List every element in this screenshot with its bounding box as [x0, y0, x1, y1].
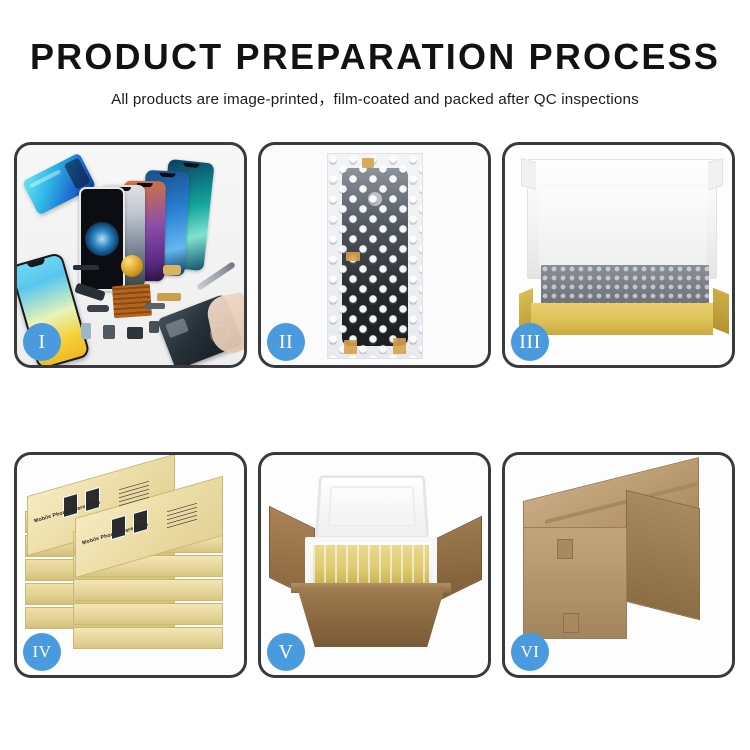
- stacked-box-edge: [73, 603, 223, 625]
- step-card-5[interactable]: V: [258, 452, 491, 678]
- box-yellow-front: [531, 303, 713, 335]
- bubble-highlights: [328, 154, 422, 358]
- phone-fan-group: [81, 159, 241, 289]
- tape-piece-icon: [346, 252, 360, 261]
- carton-side-face: [626, 490, 700, 620]
- part-module-icon: [127, 327, 143, 339]
- step-badge-2: II: [267, 323, 305, 361]
- carton-body: [297, 587, 445, 647]
- step-card-1[interactable]: I: [14, 142, 247, 368]
- step-card-3[interactable]: III: [502, 142, 735, 368]
- step-badge-1: I: [23, 323, 61, 361]
- styrofoam-lid: [315, 475, 430, 539]
- speaker-component-icon: [121, 255, 143, 277]
- box-stack: Mobile Phone Spare Parts Mobile Phone Sp…: [23, 467, 238, 667]
- box-right-side: [713, 288, 729, 334]
- phone-black-screen-icon: [79, 187, 125, 291]
- carton-tape-icon: [557, 539, 573, 559]
- step-badge-6: VI: [511, 633, 549, 671]
- part-strip-icon: [73, 265, 99, 270]
- tape-piece-icon: [362, 158, 374, 168]
- page-subtitle: All products are image-printed，film-coat…: [0, 87, 750, 109]
- product-preparation-infographic: PRODUCT PREPARATION PROCESS All products…: [0, 0, 750, 750]
- bubble-wrap-pack: [327, 153, 423, 359]
- part-gold-strip-icon: [157, 293, 181, 301]
- step-badge-5: V: [267, 633, 305, 671]
- step-card-6[interactable]: VI: [502, 452, 735, 678]
- step-card-2[interactable]: II: [258, 142, 491, 368]
- yellow-boxes-inside: [313, 545, 429, 583]
- page-title: PRODUCT PREPARATION PROCESS: [0, 38, 750, 76]
- process-steps-grid: I II: [14, 142, 736, 678]
- part-sim-tray-icon: [81, 323, 91, 339]
- step-card-4[interactable]: Mobile Phone Spare Parts Mobile Phone Sp…: [14, 452, 247, 678]
- chip-board-icon: [112, 284, 152, 319]
- stacked-box-edge: [73, 579, 223, 601]
- bubble-filled-contents: [541, 265, 709, 305]
- part-small-icon: [103, 325, 115, 339]
- header: PRODUCT PREPARATION PROCESS All products…: [0, 0, 750, 109]
- step-badge-3: III: [511, 323, 549, 361]
- part-connector-icon: [87, 305, 109, 312]
- part-bar-icon: [145, 303, 165, 309]
- stacked-box-edge: [73, 627, 223, 649]
- tape-piece-icon: [393, 338, 406, 354]
- carton-tape-icon: [563, 613, 579, 633]
- step-badge-4: IV: [23, 633, 61, 671]
- tape-piece-icon: [344, 340, 357, 354]
- part-gold-chip-icon: [163, 265, 181, 275]
- foam-sheet: [539, 189, 707, 267]
